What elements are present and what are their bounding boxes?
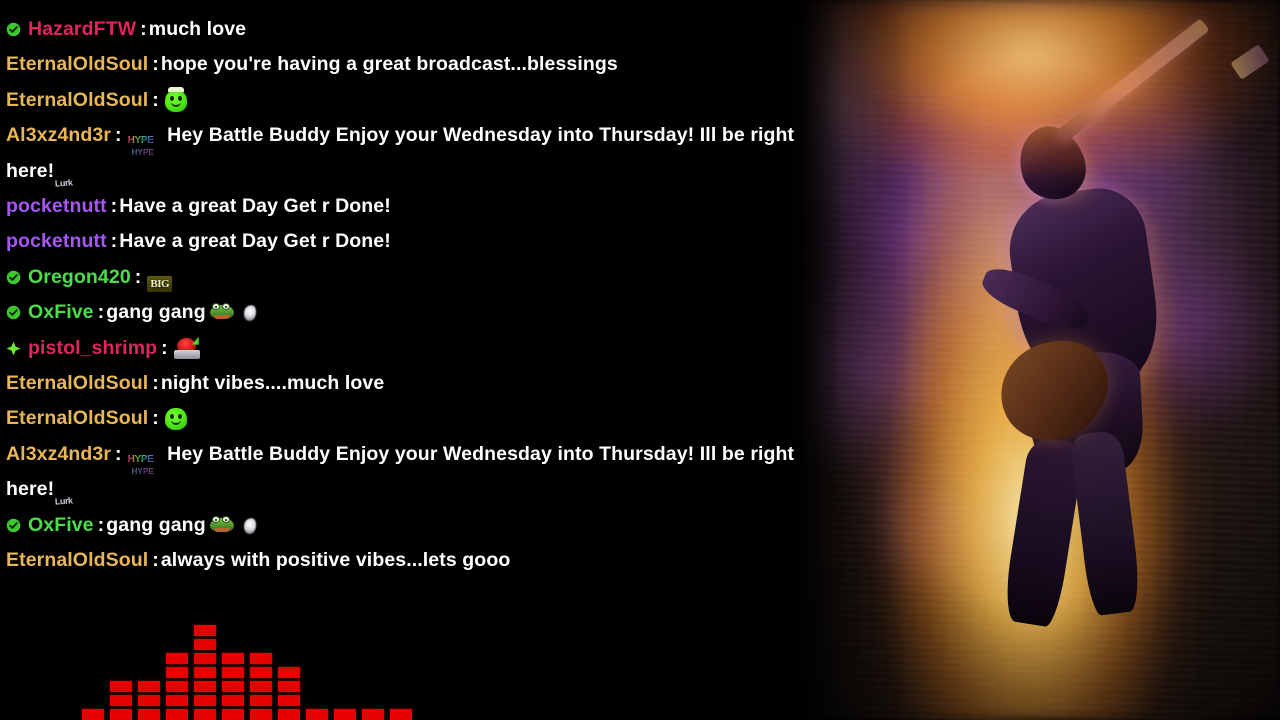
lurk-emote: Lurk: [55, 162, 81, 180]
chat-separator: :: [111, 230, 118, 252]
audio-spectrum-visualizer: [82, 610, 422, 720]
chat-username[interactable]: EternalOldSoul: [6, 407, 148, 429]
frog-mouth: [214, 528, 230, 532]
frog-mouth: [214, 315, 230, 319]
visualizer-segment: [194, 695, 216, 706]
chat-username[interactable]: Al3xz4nd3r: [6, 443, 111, 465]
visualizer-segment: [166, 653, 188, 664]
chat-username[interactable]: Oregon420: [28, 266, 131, 288]
visualizer-segment: [278, 695, 300, 706]
visualizer-segment: [194, 625, 216, 636]
verified-check-badge: [6, 518, 21, 533]
visualizer-segment: [362, 709, 384, 720]
chat-message: EternalOldSoul:: [6, 83, 800, 118]
hype-emote: HYPEHYPE: [128, 122, 158, 148]
visualizer-segment: [110, 681, 132, 692]
stream-background-art: [780, 0, 1280, 720]
chat-message: pistol_shrimp:: [6, 331, 800, 366]
visualizer-segment: [334, 709, 356, 720]
chat-separator: :: [152, 407, 159, 429]
chat-separator: :: [152, 372, 159, 394]
red-mask-emote: [174, 338, 200, 360]
chat-message: OxFive:gang gang: [6, 295, 800, 330]
visualizer-bar: [194, 625, 216, 720]
visualizer-bar: [222, 653, 244, 720]
visualizer-segment: [250, 681, 272, 692]
visualizer-segment: [390, 709, 412, 720]
chat-overlay: HazardFTW:much love EternalOldSoul:hope …: [0, 0, 800, 579]
visualizer-bar: [82, 709, 104, 720]
visualizer-segment: [250, 667, 272, 678]
visualizer-segment: [166, 667, 188, 678]
visualizer-segment: [306, 709, 328, 720]
visualizer-segment: [250, 653, 272, 664]
visualizer-segment: [138, 681, 160, 692]
diamond-badge: [6, 341, 21, 356]
chat-message: Oregon420:BIG: [6, 260, 800, 295]
smoke-emote: [242, 303, 258, 323]
chat-message-text: gang gang: [106, 514, 205, 536]
chat-separator: :: [140, 18, 147, 40]
visualizer-segment: [278, 709, 300, 720]
chat-separator: :: [161, 337, 168, 359]
frog-emote: [210, 302, 234, 324]
stream-overlay-stage: HazardFTW:much love EternalOldSoul:hope …: [0, 0, 1280, 720]
chat-message-text: Have a great Day Get r Done!: [119, 230, 391, 252]
green-blob-hat-emote: [165, 90, 187, 112]
chat-message: EternalOldSoul:hope you're having a grea…: [6, 47, 800, 82]
chat-message-text: night vibes....much love: [161, 372, 384, 394]
chat-message: EternalOldSoul:: [6, 401, 800, 436]
chat-username[interactable]: EternalOldSoul: [6, 53, 148, 75]
frog-left-eye: [212, 303, 220, 310]
visualizer-segment: [222, 667, 244, 678]
chat-separator: :: [98, 301, 105, 323]
chat-message: OxFive:gang gang: [6, 508, 800, 543]
chat-separator: :: [135, 266, 142, 288]
visualizer-segment: [222, 709, 244, 720]
green-blob-emote: [165, 408, 187, 430]
chat-separator: :: [152, 549, 159, 571]
chat-separator: :: [152, 89, 159, 111]
blob-hat: [168, 87, 184, 92]
visualizer-segment: [194, 681, 216, 692]
smoke-puff: [242, 516, 258, 534]
chat-message: Al3xz4nd3r:HYPEHYPE Hey Battle Buddy Enj…: [6, 118, 800, 189]
verified-check-badge: [6, 270, 21, 285]
visualizer-segment: [138, 695, 160, 706]
chat-username[interactable]: EternalOldSoul: [6, 372, 148, 394]
art-vignette: [780, 0, 1280, 720]
visualizer-bar: [110, 681, 132, 720]
chat-username[interactable]: Al3xz4nd3r: [6, 124, 111, 146]
smoke-puff: [242, 304, 258, 322]
chat-separator: :: [115, 124, 122, 146]
visualizer-segment: [222, 653, 244, 664]
frog-emote: [210, 515, 234, 537]
visualizer-segment: [278, 681, 300, 692]
visualizer-segment: [82, 709, 104, 720]
lurk-emote-label: Lurk: [54, 484, 74, 521]
visualizer-bar: [306, 709, 328, 720]
frog-right-eye: [222, 303, 230, 310]
blob-mouth: [171, 101, 181, 107]
visualizer-segment: [166, 709, 188, 720]
chat-username[interactable]: pocketnutt: [6, 230, 107, 252]
frog-right-eye: [222, 516, 230, 523]
visualizer-bar: [334, 709, 356, 720]
blob-mouth: [171, 419, 181, 425]
chat-message-text: hope you're having a great broadcast...b…: [161, 53, 618, 75]
visualizer-segment: [250, 709, 272, 720]
chat-message: Al3xz4nd3r:HYPEHYPE Hey Battle Buddy Enj…: [6, 437, 800, 508]
chat-message-text: Hey Battle Buddy Enjoy your Wednesday in…: [6, 443, 794, 500]
chat-message-text: gang gang: [106, 301, 205, 323]
chat-message: HazardFTW:much love: [6, 12, 800, 47]
visualizer-segment: [222, 681, 244, 692]
visualizer-segment: [222, 695, 244, 706]
chat-message-text: Have a great Day Get r Done!: [119, 195, 391, 217]
smoke-emote: [242, 516, 258, 536]
visualizer-segment: [166, 681, 188, 692]
chat-message: EternalOldSoul:night vibes....much love: [6, 366, 800, 401]
chat-message: EternalOldSoul:always with positive vibe…: [6, 543, 800, 578]
chat-separator: :: [115, 443, 122, 465]
verified-check-badge: [6, 305, 21, 320]
visualizer-segment: [166, 695, 188, 706]
chat-message-text: much love: [149, 18, 246, 40]
hype-emote-sublabel: HYPE: [132, 454, 154, 489]
visualizer-bar: [166, 653, 188, 720]
mask-band: [174, 350, 200, 359]
chat-username[interactable]: pistol_shrimp: [28, 337, 157, 359]
visualizer-segment: [194, 639, 216, 650]
chat-message: pocketnutt:Have a great Day Get r Done!: [6, 224, 800, 259]
visualizer-segment: [194, 653, 216, 664]
visualizer-bar: [278, 667, 300, 720]
visualizer-bar: [138, 681, 160, 720]
chat-separator: :: [111, 195, 118, 217]
chat-message-text: Hey Battle Buddy Enjoy your Wednesday in…: [6, 124, 794, 181]
visualizer-segment: [278, 667, 300, 678]
visualizer-segment: [110, 695, 132, 706]
chat-message-text: always with positive vibes...lets gooo: [161, 549, 510, 571]
visualizer-bar: [362, 709, 384, 720]
chat-separator: :: [98, 514, 105, 536]
visualizer-segment: [250, 695, 272, 706]
chat-separator: :: [152, 53, 159, 75]
hype-emote-sublabel: HYPE: [132, 135, 154, 170]
visualizer-segment: [194, 667, 216, 678]
visualizer-segment: [194, 709, 216, 720]
big-emote: BIG: [147, 276, 172, 292]
frog-left-eye: [212, 516, 220, 523]
hype-emote: HYPEHYPE: [128, 441, 158, 467]
visualizer-bar: [390, 709, 412, 720]
lurk-emote: Lurk: [55, 480, 81, 498]
verified-check-badge: [6, 22, 21, 37]
visualizer-segment: [138, 709, 160, 720]
chat-username[interactable]: EternalOldSoul: [6, 89, 148, 111]
visualizer-bar: [250, 653, 272, 720]
chat-username[interactable]: HazardFTW: [28, 18, 136, 40]
chat-message: pocketnutt:Have a great Day Get r Done!: [6, 189, 800, 224]
lurk-emote-label: Lurk: [54, 165, 74, 202]
chat-username[interactable]: EternalOldSoul: [6, 549, 148, 571]
chat-username[interactable]: OxFive: [28, 301, 94, 323]
visualizer-segment: [110, 709, 132, 720]
